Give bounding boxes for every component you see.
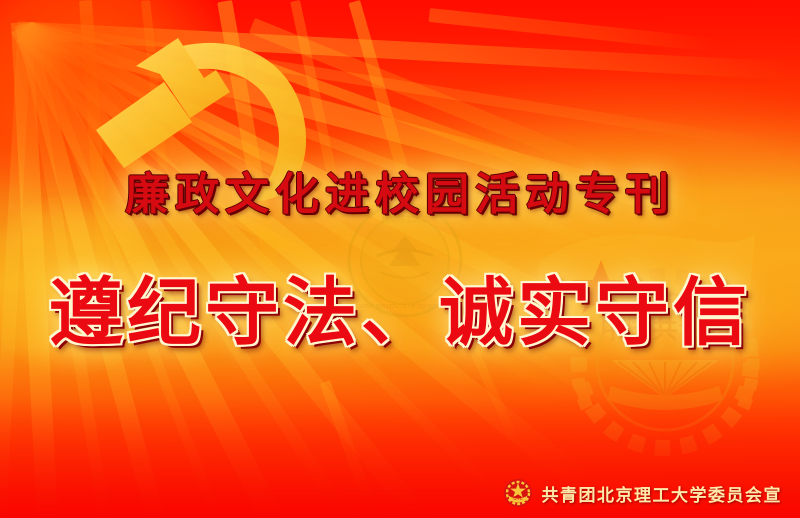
page-title: 遵纪守法、诚实守信 — [0, 253, 800, 360]
credit-line: CYL 共青团北京理工大学委员会宣 — [503, 478, 783, 508]
svg-text:CYL: CYL — [513, 496, 523, 502]
poster-subtitle: 廉政文化进校园活动专刊 — [0, 158, 800, 222]
youth-league-badge-icon: CYL — [503, 478, 533, 508]
poster-canvas: 北京理工大学 BEIJING INSTITUTE OF TECHNOLOGY — [0, 0, 800, 518]
credit-text: 共青团北京理工大学委员会宣 — [542, 481, 783, 506]
